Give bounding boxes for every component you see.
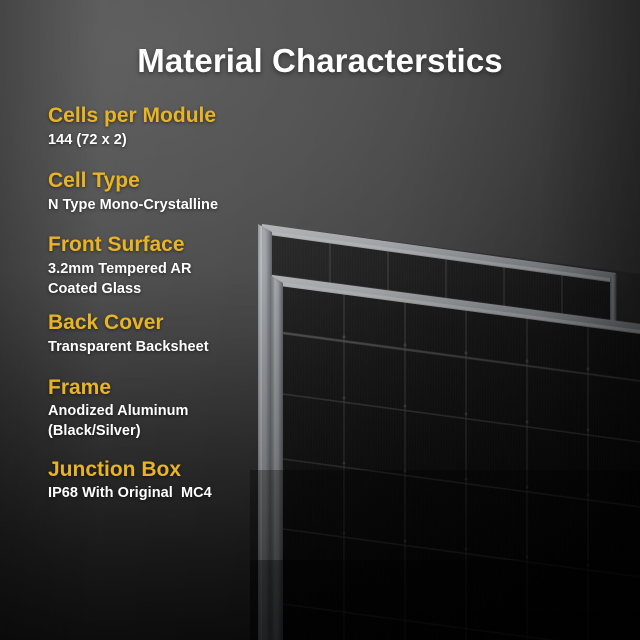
spec-label-cell-type: Cell Type — [48, 169, 288, 193]
spec-item-junction-box: Junction Box IP68 With Original MC4 — [48, 458, 288, 504]
spec-value-cell-type: N Type Mono-Crystalline — [48, 196, 288, 216]
spec-label-junction-box: Junction Box — [48, 458, 288, 482]
spec-value-cells-per-module: 144 (72 x 2) — [48, 131, 288, 151]
spec-label-front-surface: Front Surface — [48, 233, 288, 257]
spec-item-back-cover: Back Cover Transparent Backsheet — [48, 311, 288, 357]
spec-value-front-surface: 3.2mm Tempered AR Coated Glass — [48, 260, 288, 299]
spec-label-cells-per-module: Cells per Module — [48, 104, 288, 128]
spec-item-cells-per-module: Cells per Module 144 (72 x 2) — [48, 104, 288, 150]
spec-value-back-cover: Transparent Backsheet — [48, 338, 288, 358]
spec-value-frame: Anodized Aluminum (Black/Silver) — [48, 402, 288, 441]
spec-item-cell-type: Cell Type N Type Mono-Crystalline — [48, 169, 288, 215]
material-characteristics-poster: Material Characterstics Cells per Module… — [0, 0, 640, 640]
spec-item-frame: Frame Anodized Aluminum (Black/Silver) — [48, 376, 288, 442]
page-title: Material Characterstics — [0, 42, 640, 80]
spec-label-frame: Frame — [48, 376, 288, 400]
spec-value-junction-box: IP68 With Original MC4 — [48, 484, 288, 504]
specification-list: Cells per Module 144 (72 x 2) Cell Type … — [48, 104, 288, 518]
spec-label-back-cover: Back Cover — [48, 311, 288, 335]
spec-item-front-surface: Front Surface 3.2mm Tempered AR Coated G… — [48, 233, 288, 299]
